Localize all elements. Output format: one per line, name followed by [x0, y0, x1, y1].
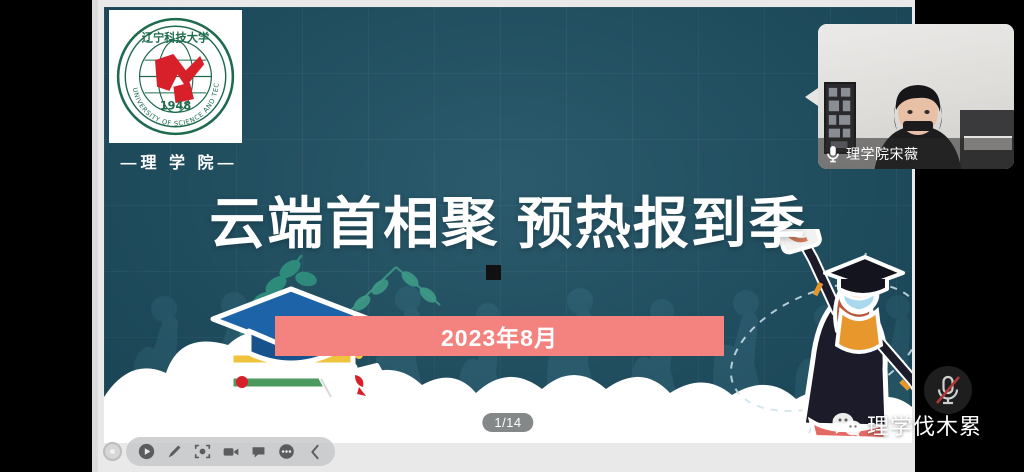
presentation-slide[interactable]: 1948 辽宁科技大学 UNIVERSITY OF SCIENCE AND TE…: [104, 7, 912, 443]
svg-text:1948: 1948: [160, 99, 192, 112]
laser-button[interactable]: [191, 440, 214, 463]
page-indicator: 1/14: [482, 413, 533, 432]
microphone-muted-icon: [934, 374, 962, 406]
date-banner: 2023年8月: [275, 316, 724, 356]
play-button[interactable]: [135, 440, 158, 463]
microphone-icon: [826, 145, 840, 163]
college-label: —理 学 院—: [109, 149, 249, 173]
watermark-text: 理学伐木累: [867, 409, 982, 441]
annotate-button[interactable]: [163, 440, 186, 463]
date-banner-text: 2023年8月: [441, 319, 558, 353]
black-square-pointer: [486, 265, 501, 280]
chat-button[interactable]: [247, 440, 270, 463]
screen-root: 1948 辽宁科技大学 UNIVERSITY OF SCIENCE AND TE…: [0, 0, 1024, 472]
participant-name-bar: 理学院宋薇: [818, 138, 1014, 169]
svg-text:辽宁科技大学: 辽宁科技大学: [142, 31, 210, 45]
university-logo-card: 1948 辽宁科技大学 UNIVERSITY OF SCIENCE AND TE…: [109, 10, 242, 143]
video-button[interactable]: [219, 440, 242, 463]
wechat-icon: [832, 412, 862, 438]
collapse-button[interactable]: [303, 440, 326, 463]
mic-mute-badge[interactable]: [924, 366, 972, 414]
channel-watermark: 理学伐木累: [832, 409, 982, 441]
participant-name: 理学院宋薇: [846, 144, 919, 164]
ustl-university-seal-icon: 1948 辽宁科技大学 UNIVERSITY OF SCIENCE AND TE…: [114, 15, 237, 138]
presentation-toolbar[interactable]: [126, 437, 335, 466]
toolbar-drag-handle[interactable]: [103, 442, 122, 461]
participant-video-tile[interactable]: 理学院宋薇: [818, 24, 1014, 169]
more-button[interactable]: [275, 440, 298, 463]
slide-headline: 云端首相聚 预热报到季: [104, 179, 912, 260]
